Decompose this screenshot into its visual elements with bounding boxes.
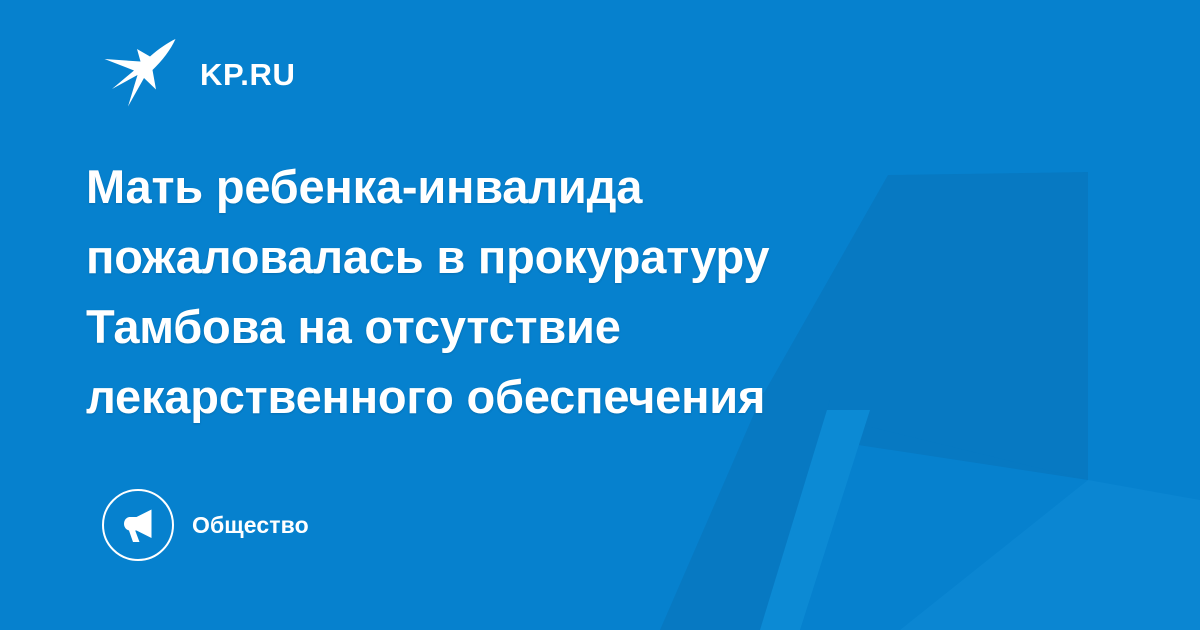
brand-name: KP.RU <box>200 59 295 90</box>
category-label: Общество <box>192 514 309 537</box>
headline-line-4: лекарственного обеспечения <box>86 362 986 432</box>
headline-line-1: Мать ребенка-инвалида <box>86 152 986 222</box>
headline: Мать ребенка-инвалида пожаловалась в про… <box>86 152 986 432</box>
brand-logo-row[interactable]: KP.RU <box>104 36 295 108</box>
headline-line-2: пожаловалась в прокуратуру <box>86 222 986 292</box>
category-icon-circle <box>102 489 174 561</box>
share-card: KP.RU Мать ребенка-инвалида пожаловалась… <box>0 0 1200 630</box>
megaphone-icon <box>118 505 158 545</box>
watermark-handle-core <box>660 400 830 630</box>
category-badge[interactable]: Общество <box>102 488 309 562</box>
headline-line-3: Тамбова на отсутствие <box>86 292 986 362</box>
watermark-sweep <box>900 480 1200 630</box>
swallow-bird-icon <box>104 37 178 107</box>
watermark-handle <box>700 410 870 630</box>
